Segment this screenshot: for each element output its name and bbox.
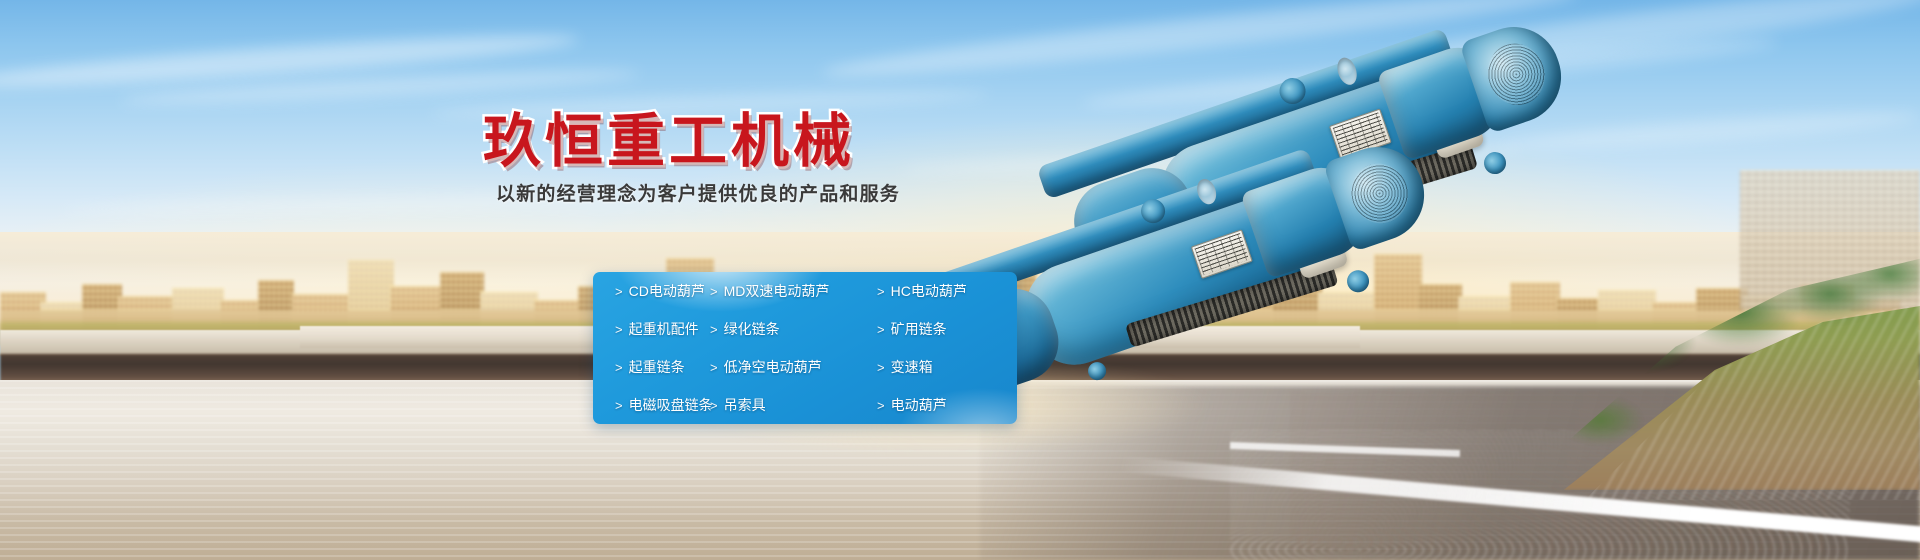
chevron-right-icon: > [615, 284, 623, 299]
product-link-label: 变速箱 [891, 357, 933, 377]
product-link[interactable]: >变速箱 [851, 357, 1017, 377]
product-link[interactable]: >吊索具 [706, 395, 851, 415]
product-link[interactable]: >HC电动葫芦 [851, 281, 1017, 301]
hero-banner: 玖恒重工机械 以新的经营理念为客户提供优良的产品和服务 >CD电动葫芦>MD双速… [0, 0, 1920, 560]
product-link[interactable]: >绿化链条 [706, 319, 851, 339]
chevron-right-icon: > [877, 322, 885, 337]
product-link-label: 起重链条 [629, 357, 685, 377]
product-link-label: CD电动葫芦 [629, 281, 705, 301]
product-link-label: 低净空电动葫芦 [724, 357, 822, 377]
product-link[interactable]: >低净空电动葫芦 [706, 357, 851, 377]
chevron-right-icon: > [615, 360, 623, 375]
chevron-right-icon: > [877, 360, 885, 375]
chevron-right-icon: > [710, 398, 718, 413]
chevron-right-icon: > [615, 398, 623, 413]
chevron-right-icon: > [710, 322, 718, 337]
product-link[interactable]: >起重机配件 [593, 319, 706, 339]
product-link[interactable]: >CD电动葫芦 [593, 281, 706, 301]
product-link[interactable]: >矿用链条 [851, 319, 1017, 339]
product-link-label: MD双速电动葫芦 [724, 281, 830, 301]
chevron-right-icon: > [877, 398, 885, 413]
page-subtitle: 以新的经营理念为客户提供优良的产品和服务 [496, 182, 900, 208]
product-link[interactable]: >起重链条 [593, 357, 706, 377]
chevron-right-icon: > [615, 322, 623, 337]
product-link-label: 矿用链条 [891, 319, 947, 339]
chevron-right-icon: > [710, 360, 718, 375]
product-link-label: 绿化链条 [724, 319, 780, 339]
product-link[interactable]: >电动葫芦 [851, 395, 1017, 415]
product-link-label: 电动葫芦 [891, 395, 947, 415]
product-link-label: 起重机配件 [629, 319, 699, 339]
product-link-label: 电磁吸盘链条 [629, 395, 713, 415]
product-link-label: 吊索具 [724, 395, 766, 415]
page-title: 玖恒重工机械 [483, 110, 855, 174]
product-link[interactable]: >MD双速电动葫芦 [706, 281, 851, 301]
product-links-panel: >CD电动葫芦>MD双速电动葫芦>HC电动葫芦>起重机配件>绿化链条>矿用链条>… [593, 272, 1017, 424]
product-links-grid: >CD电动葫芦>MD双速电动葫芦>HC电动葫芦>起重机配件>绿化链条>矿用链条>… [593, 272, 1017, 424]
product-link-label: HC电动葫芦 [891, 281, 967, 301]
chevron-right-icon: > [710, 284, 718, 299]
product-link[interactable]: >电磁吸盘链条 [593, 395, 706, 415]
chevron-right-icon: > [877, 284, 885, 299]
